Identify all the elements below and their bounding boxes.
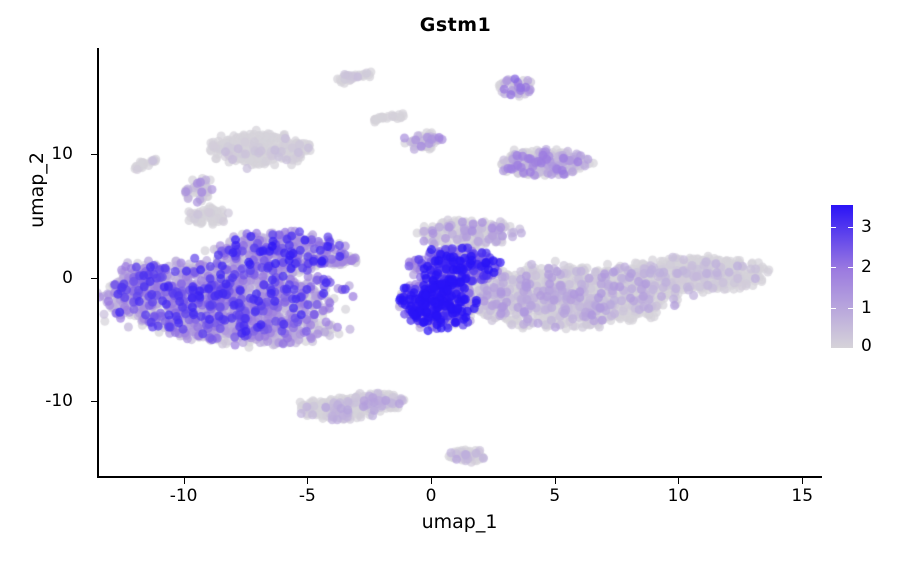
x-tick-mark (802, 478, 803, 484)
page-title: Gstm1 (0, 14, 911, 36)
colorbar-tick-mark (831, 267, 836, 268)
x-tick-mark (431, 478, 432, 484)
y-tick-mark (91, 401, 97, 402)
x-tick-label: -10 (154, 486, 214, 506)
x-tick-label: 5 (525, 486, 585, 506)
colorbar-tick-mark (848, 308, 853, 309)
x-tick-label: 0 (401, 486, 461, 506)
x-tick-mark (678, 478, 679, 484)
colorbar-tick-mark (831, 227, 836, 228)
y-tick-label: -10 (0, 391, 83, 411)
colorbar-tick-mark (848, 227, 853, 228)
y-axis-label: umap_2 (26, 106, 48, 274)
y-tick-mark (91, 154, 97, 155)
colorbar: 0123 (831, 205, 853, 348)
x-tick-label: -5 (277, 486, 337, 506)
plot-axes (97, 48, 822, 478)
x-tick-mark (555, 478, 556, 484)
x-tick-label: 15 (772, 486, 832, 506)
colorbar-tick-label: 1 (861, 298, 872, 318)
umap-feature-plot: Gstm1 -10-5051015 100-10 umap_1 umap_2 0… (0, 0, 911, 562)
colorbar-tick-label: 0 (861, 336, 872, 356)
x-tick-label: 10 (648, 486, 708, 506)
x-tick-mark (307, 478, 308, 484)
colorbar-tick-mark (848, 267, 853, 268)
colorbar-tick-label: 2 (861, 257, 872, 277)
x-tick-mark (184, 478, 185, 484)
x-axis-label: umap_1 (97, 511, 822, 533)
colorbar-tick-label: 3 (861, 217, 872, 237)
colorbar-tick-mark (831, 308, 836, 309)
y-tick-mark (91, 278, 97, 279)
